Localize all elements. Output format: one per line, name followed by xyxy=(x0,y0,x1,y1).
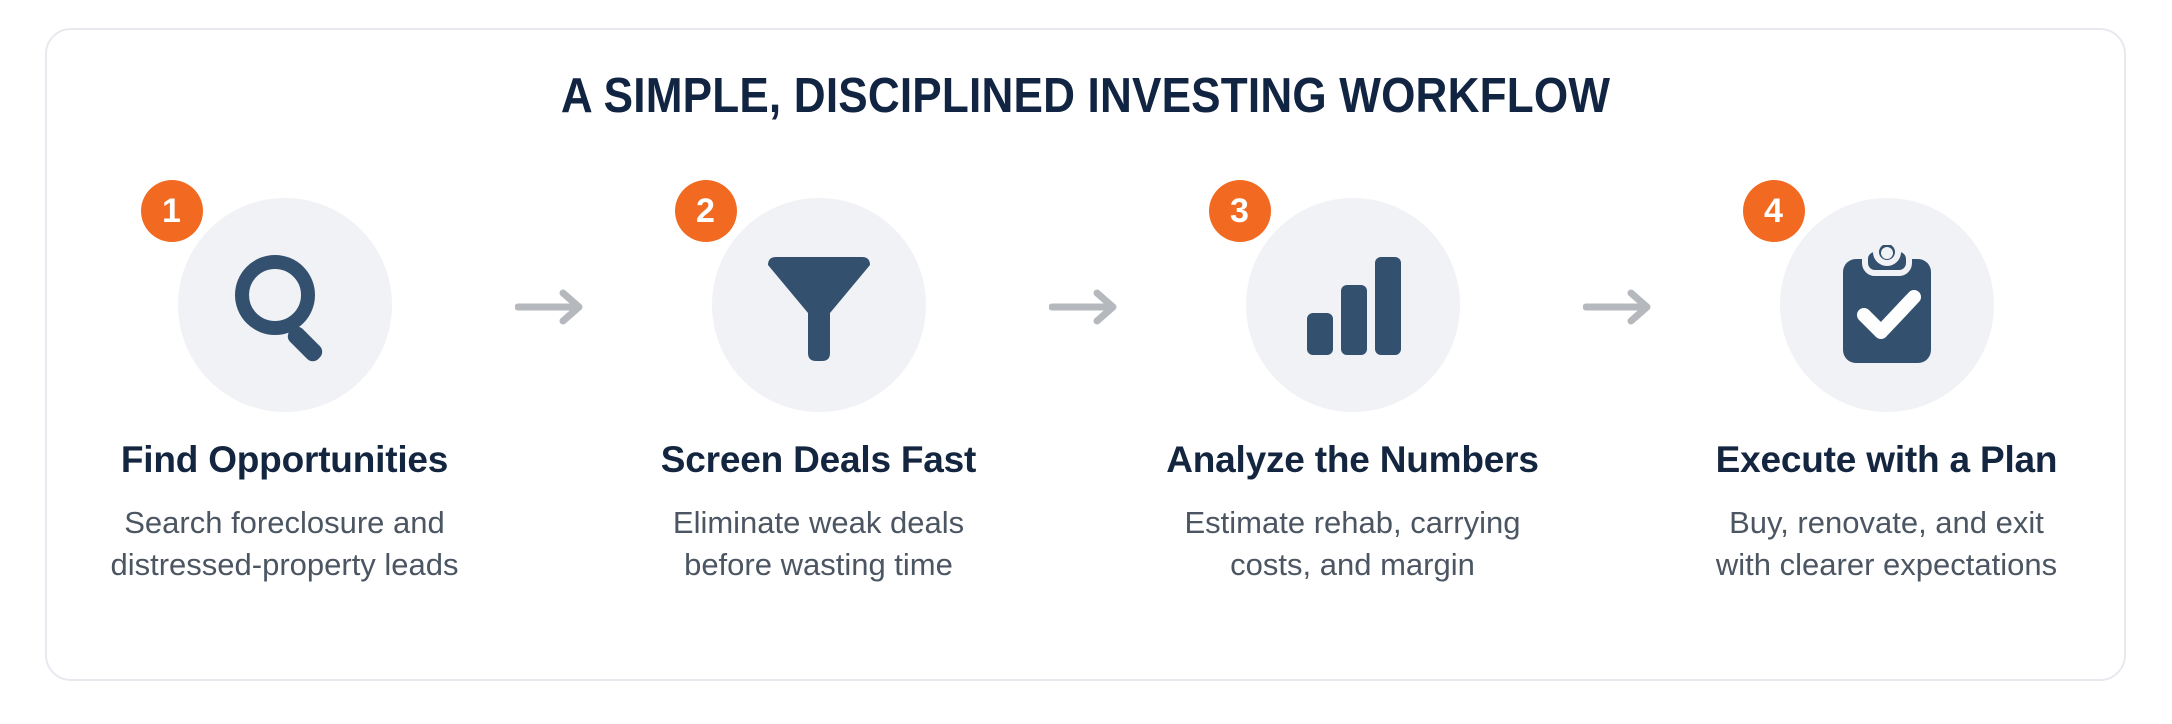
workflow-step-1: 1 Find Opportunities Search foreclosure … xyxy=(59,180,511,586)
step-icon-wrap: 4 xyxy=(1737,180,2037,398)
step-icon-wrap: 1 xyxy=(135,180,435,398)
step-description-line-2: before wasting time xyxy=(673,544,964,586)
arrow-right-icon xyxy=(1579,198,1661,416)
page-title: A SIMPLE, DISCIPLINED INVESTING WORKFLOW xyxy=(151,72,2020,121)
step-icon-wrap: 3 xyxy=(1203,180,1503,398)
arrow-right-icon xyxy=(1045,198,1127,416)
workflow-step-2: 2 Screen Deals Fast Eliminate weak deals… xyxy=(593,180,1045,586)
magnifier-icon xyxy=(178,198,392,412)
step-description-line-1: Search foreclosure and xyxy=(124,505,445,540)
step-title: Execute with a Plan xyxy=(1716,439,2058,481)
step-badge-3: 3 xyxy=(1209,180,1271,242)
workflow-infographic: A SIMPLE, DISCIPLINED INVESTING WORKFLOW… xyxy=(0,0,2172,724)
step-description-line-1: Estimate rehab, carrying xyxy=(1185,505,1521,540)
step-badge-2: 2 xyxy=(675,180,737,242)
arrow-right-icon xyxy=(511,198,593,416)
bar-chart-icon xyxy=(1246,198,1460,412)
funnel-icon xyxy=(712,198,926,412)
step-description-line-1: Buy, renovate, and exit xyxy=(1729,505,2044,540)
step-description-line-2: with clearer expectations xyxy=(1716,544,2057,586)
step-description-line-2: costs, and margin xyxy=(1185,544,1521,586)
step-description-line-2: distressed-property leads xyxy=(110,544,458,586)
workflow-step-3: 3 Analyze the Numbers Estimate rehab, ca… xyxy=(1127,180,1579,586)
step-description: Eliminate weak deals before wasting time xyxy=(673,502,964,586)
step-description: Buy, renovate, and exit with clearer exp… xyxy=(1716,502,2057,586)
step-title: Screen Deals Fast xyxy=(661,439,976,481)
step-badge-1: 1 xyxy=(141,180,203,242)
step-description: Estimate rehab, carrying costs, and marg… xyxy=(1185,502,1521,586)
workflow-steps: 1 Find Opportunities Search foreclosure … xyxy=(47,180,2124,586)
step-badge-4: 4 xyxy=(1743,180,1805,242)
step-description: Search foreclosure and distressed-proper… xyxy=(110,502,458,586)
workflow-card: A SIMPLE, DISCIPLINED INVESTING WORKFLOW… xyxy=(45,28,2126,681)
step-title: Find Opportunities xyxy=(121,439,448,481)
workflow-step-4: 4 Execute with a Plan Buy, renovate, and… xyxy=(1661,180,2113,586)
step-description-line-1: Eliminate weak deals xyxy=(673,505,964,540)
clipboard-check-icon xyxy=(1780,198,1994,412)
step-icon-wrap: 2 xyxy=(669,180,969,398)
step-title: Analyze the Numbers xyxy=(1166,439,1538,481)
